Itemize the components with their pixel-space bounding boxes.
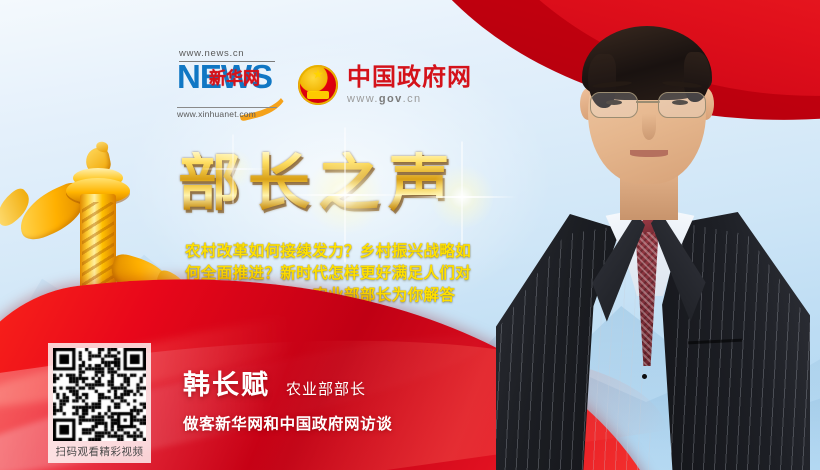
guest-name: 韩长赋 (183, 372, 270, 399)
gov-cn-logo[interactable]: 中国政府网 www.gov.cn (298, 65, 472, 105)
xinhua-cn-name: 新华网 (209, 64, 260, 89)
gov-text: 中国政府网 www.gov.cn (347, 65, 472, 104)
glasses-bridge (636, 101, 660, 103)
gov-url-suffix: .cn (403, 93, 422, 105)
page-title: 部长之声 (178, 152, 458, 214)
guest-portrait (492, 18, 810, 470)
qr-code-icon (53, 348, 146, 441)
suit-button (642, 374, 647, 379)
guest-name-row: 韩长赋 农业部部长 (183, 372, 366, 399)
national-emblem-icon (298, 65, 338, 105)
guest-role: 农业部部长 (286, 382, 366, 399)
gov-url-mid: gov (379, 93, 403, 105)
qr-code-canvas (53, 348, 146, 441)
minister-voice-banner: www.news.cn NEWS 新华网 www.xinhuanet.com 中… (0, 0, 820, 470)
hair (582, 26, 712, 100)
gov-cn-name: 中国政府网 (347, 65, 472, 90)
xinhua-url-bottom: www.xinhuanet.com (177, 109, 256, 119)
banner-title-wrap: 部长之声 (178, 152, 458, 214)
qr-caption: 扫码观看精彩视频 (48, 444, 151, 459)
lens-right (658, 92, 706, 118)
gov-url: www.gov.cn (347, 93, 472, 105)
xinhua-logo[interactable]: www.news.cn NEWS 新华网 www.xinhuanet.com (175, 48, 280, 122)
nose (642, 114, 656, 140)
logo-bar: www.news.cn NEWS 新华网 www.xinhuanet.com 中… (175, 48, 472, 122)
banner-subline: 做客新华网和中国政府网访谈 (183, 412, 392, 434)
qr-code-block[interactable]: 扫码观看精彩视频 (48, 343, 151, 463)
mouth (630, 150, 668, 157)
gov-url-prefix: www. (347, 93, 379, 105)
lens-left (590, 92, 638, 118)
xinhua-rule-bottom (177, 107, 277, 108)
